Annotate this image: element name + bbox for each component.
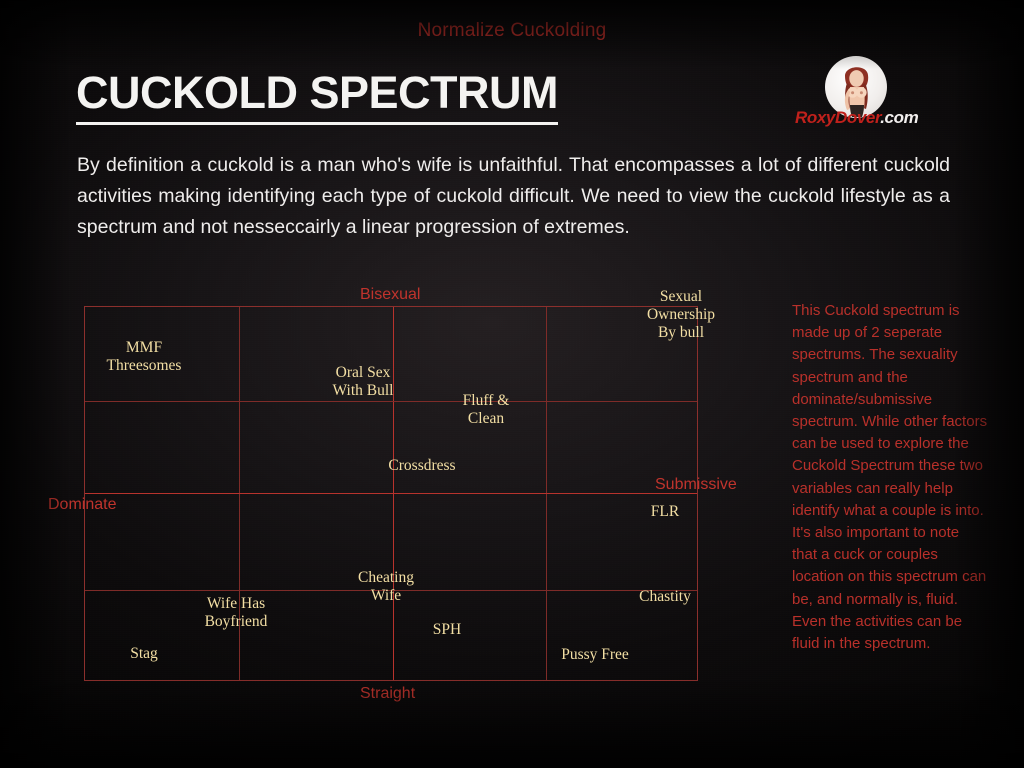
brand-logo[interactable]: RoxyDover.com	[795, 56, 917, 134]
plot-label-pussy-free[interactable]: Pussy Free	[561, 646, 629, 664]
plot-label-stag[interactable]: Stag	[130, 645, 158, 663]
gridline-horizontal-1	[85, 401, 697, 402]
plot-label-fluff-and-clean[interactable]: Fluff & Clean	[463, 392, 510, 428]
plot-label-crossdress[interactable]: Crossdress	[388, 457, 455, 475]
logo-tld-text: .com	[880, 108, 918, 127]
plot-label-sph[interactable]: SPH	[433, 621, 461, 639]
axis-label-bisexual: Bisexual	[360, 286, 420, 304]
axis-label-straight: Straight	[360, 685, 415, 703]
axis-label-submissive: Submissive	[655, 476, 737, 494]
tagline: Normalize Cuckolding	[0, 20, 1024, 42]
plot-label-flr[interactable]: FLR	[651, 503, 679, 521]
logo-brand-text: RoxyDover	[795, 108, 880, 127]
axis-horizontal-center	[85, 493, 697, 494]
logo-wordmark: RoxyDover.com	[795, 108, 917, 128]
plot-label-cheating-wife[interactable]: Cheating Wife	[358, 569, 414, 605]
infographic-page: Normalize Cuckolding CUCKOLD SPECTRUM Ro…	[0, 0, 1024, 768]
plot-label-mmf-threesomes[interactable]: MMF Threesomes	[107, 339, 182, 375]
plot-label-oral-sex-with-bull[interactable]: Oral Sex With Bull	[333, 364, 394, 400]
intro-paragraph: By definition a cuckold is a man who's w…	[77, 150, 950, 243]
plot-label-sexual-ownership-by-bull[interactable]: Sexual Ownership By bull	[647, 288, 715, 342]
page-title: CUCKOLD SPECTRUM	[76, 70, 558, 125]
plot-label-chastity[interactable]: Chastity	[639, 588, 691, 606]
axis-label-dominate: Dominate	[48, 496, 116, 514]
sidenote-paragraph: This Cuckold spectrum is made up of 2 se…	[792, 300, 988, 655]
plot-label-wife-has-boyfriend[interactable]: Wife Has Boyfriend	[205, 595, 268, 631]
